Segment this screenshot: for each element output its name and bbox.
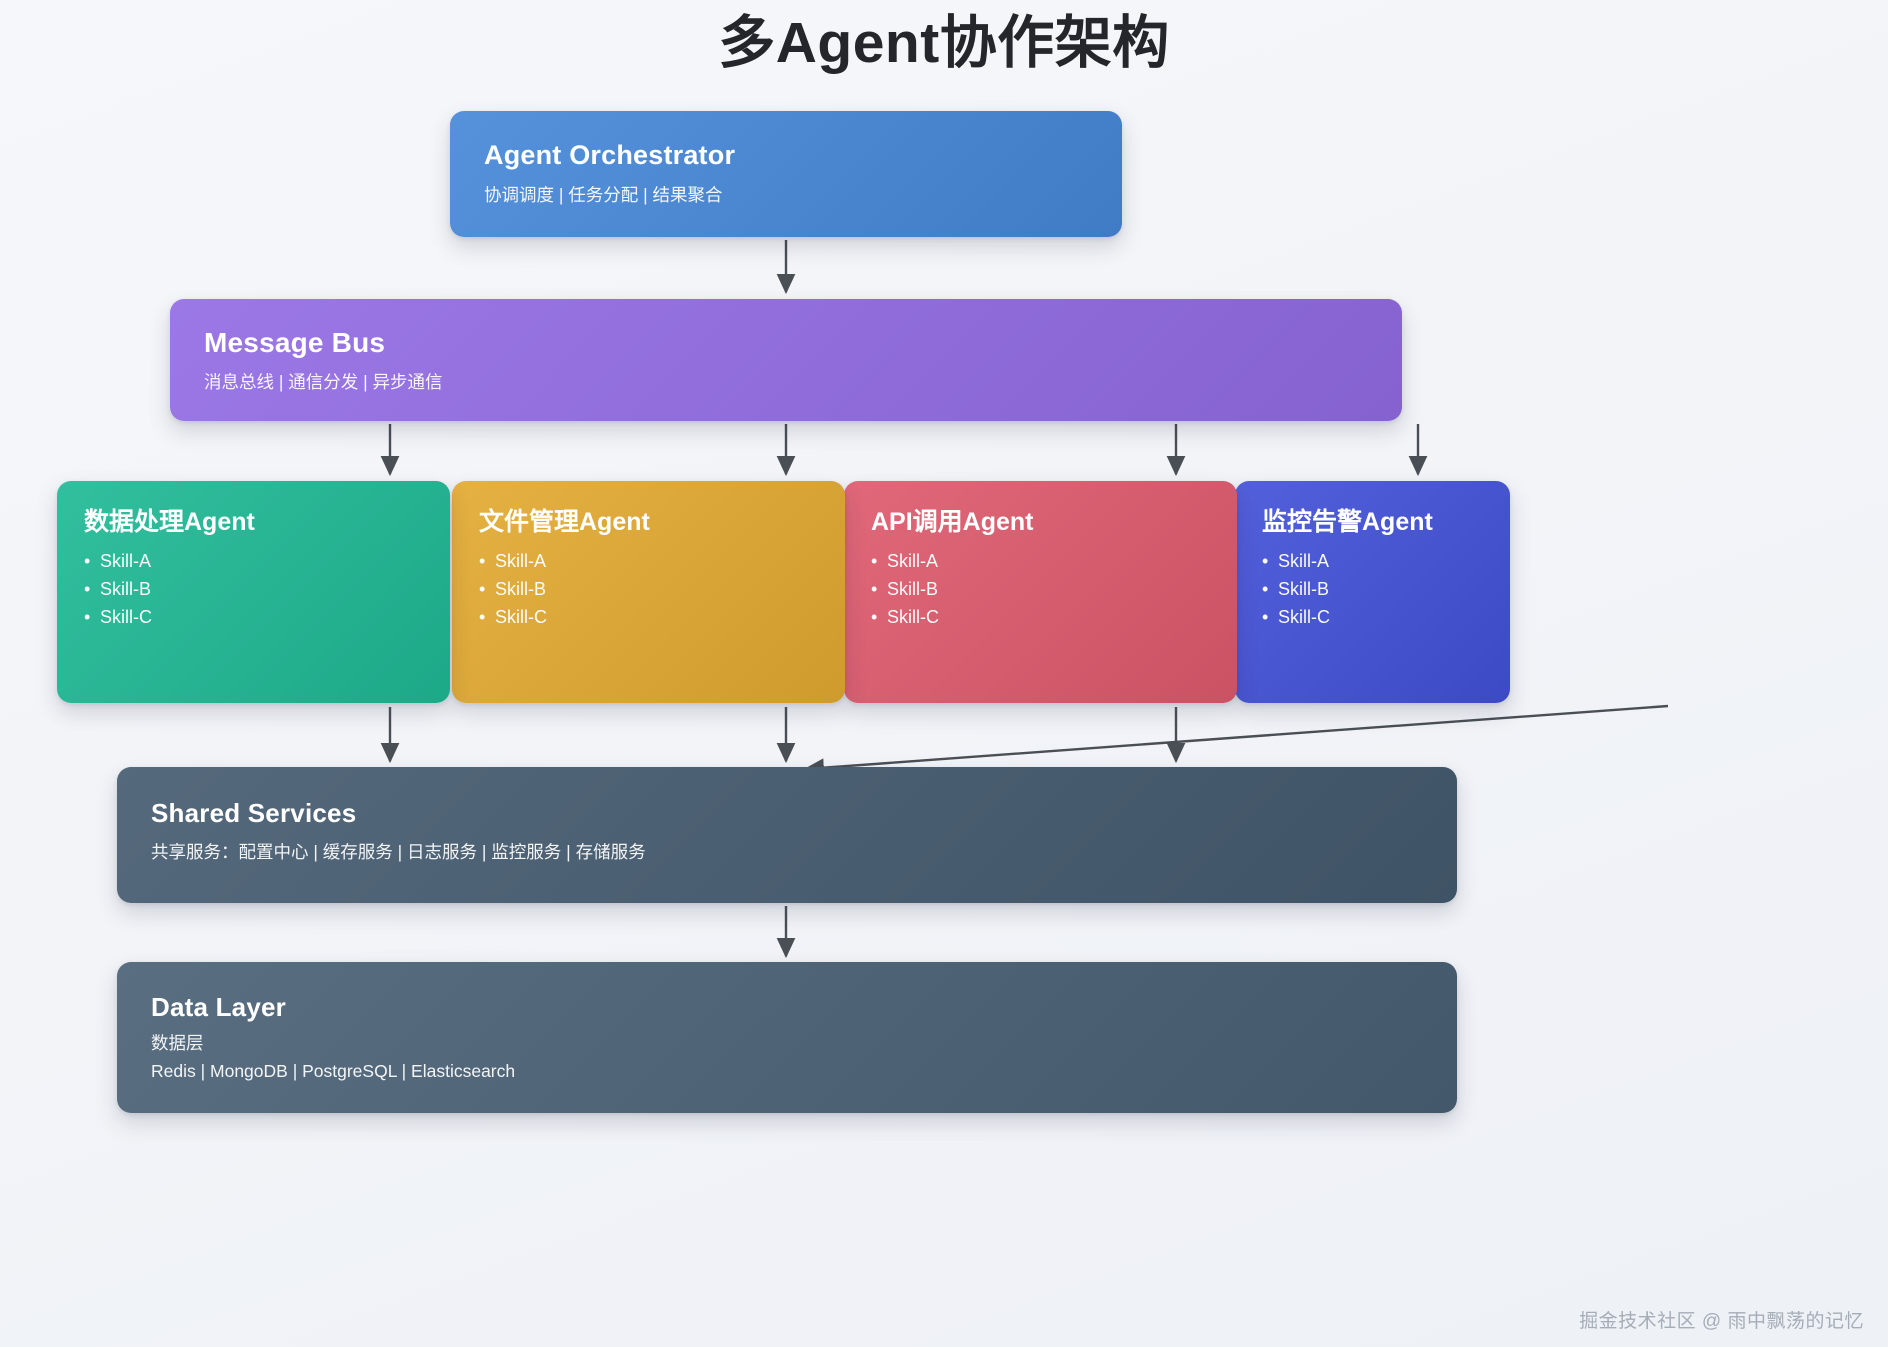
shared-services-subtitle: 共享服务：配置中心 | 缓存服务 | 日志服务 | 监控服务 | 存储服务 — [151, 839, 1423, 865]
agent-skill-item: Skill-C — [1262, 603, 1483, 631]
diagram-canvas: 多Agent协作架构 Agent Orchestrator 协调调度 | 任务分… — [0, 0, 1888, 1347]
agent-skill-item: Skill-A — [84, 547, 423, 575]
agent-skill-item: Skill-B — [871, 575, 1210, 603]
shared-services-node[interactable]: Shared Services 共享服务：配置中心 | 缓存服务 | 日志服务 … — [117, 767, 1457, 903]
watermark: 掘金技术社区 @ 雨中飘荡的记忆 — [1579, 1306, 1864, 1333]
orchestrator-subtitle: 协调调度 | 任务分配 | 结果聚合 — [484, 182, 1088, 208]
agent-skill-item: Skill-B — [479, 575, 818, 603]
agent-skill-list: Skill-A Skill-B Skill-C — [1262, 547, 1483, 632]
arrow-agent-3-to-shared — [806, 706, 1668, 769]
agent-skill-list: Skill-A Skill-B Skill-C — [479, 547, 818, 632]
agent-card-file-management[interactable]: 文件管理Agent Skill-A Skill-B Skill-C — [452, 481, 845, 703]
data-layer-stores: Redis | MongoDB | PostgreSQL | Elasticse… — [151, 1058, 1423, 1084]
message-bus-node[interactable]: Message Bus 消息总线 | 通信分发 | 异步通信 — [170, 299, 1402, 421]
data-layer-title: Data Layer — [151, 991, 1423, 1024]
page-title: 多Agent协作架构 — [0, 8, 1888, 79]
data-layer-node[interactable]: Data Layer 数据层 Redis | MongoDB | Postgre… — [117, 962, 1457, 1113]
message-bus-subtitle: 消息总线 | 通信分发 | 异步通信 — [204, 369, 1368, 395]
agent-skill-item: Skill-C — [84, 603, 423, 631]
agent-card-monitoring-alerting[interactable]: 监控告警Agent Skill-A Skill-B Skill-C — [1235, 481, 1510, 703]
message-bus-title: Message Bus — [204, 325, 1368, 360]
agent-row: 数据处理Agent Skill-A Skill-B Skill-C 文件管理Ag… — [57, 481, 1510, 703]
agent-skill-item: Skill-B — [84, 575, 423, 603]
agent-card-api-invocation[interactable]: API调用Agent Skill-A Skill-B Skill-C — [844, 481, 1237, 703]
agent-skill-list: Skill-A Skill-B Skill-C — [84, 547, 423, 632]
agent-skill-item: Skill-A — [871, 547, 1210, 575]
agent-title: 数据处理Agent — [84, 506, 423, 539]
agent-title: 监控告警Agent — [1262, 506, 1483, 539]
agent-title: API调用Agent — [871, 506, 1210, 539]
agent-skill-list: Skill-A Skill-B Skill-C — [871, 547, 1210, 632]
data-layer-subtitle: 数据层 — [151, 1030, 1423, 1056]
agent-skill-item: Skill-B — [1262, 575, 1483, 603]
agent-skill-item: Skill-C — [479, 603, 818, 631]
agent-skill-item: Skill-C — [871, 603, 1210, 631]
agent-skill-item: Skill-A — [1262, 547, 1483, 575]
orchestrator-title: Agent Orchestrator — [484, 139, 1088, 173]
agent-title: 文件管理Agent — [479, 506, 818, 539]
agent-orchestrator-node[interactable]: Agent Orchestrator 协调调度 | 任务分配 | 结果聚合 — [450, 111, 1122, 237]
agent-card-data-processing[interactable]: 数据处理Agent Skill-A Skill-B Skill-C — [57, 481, 450, 703]
shared-services-title: Shared Services — [151, 797, 1423, 830]
agent-skill-item: Skill-A — [479, 547, 818, 575]
